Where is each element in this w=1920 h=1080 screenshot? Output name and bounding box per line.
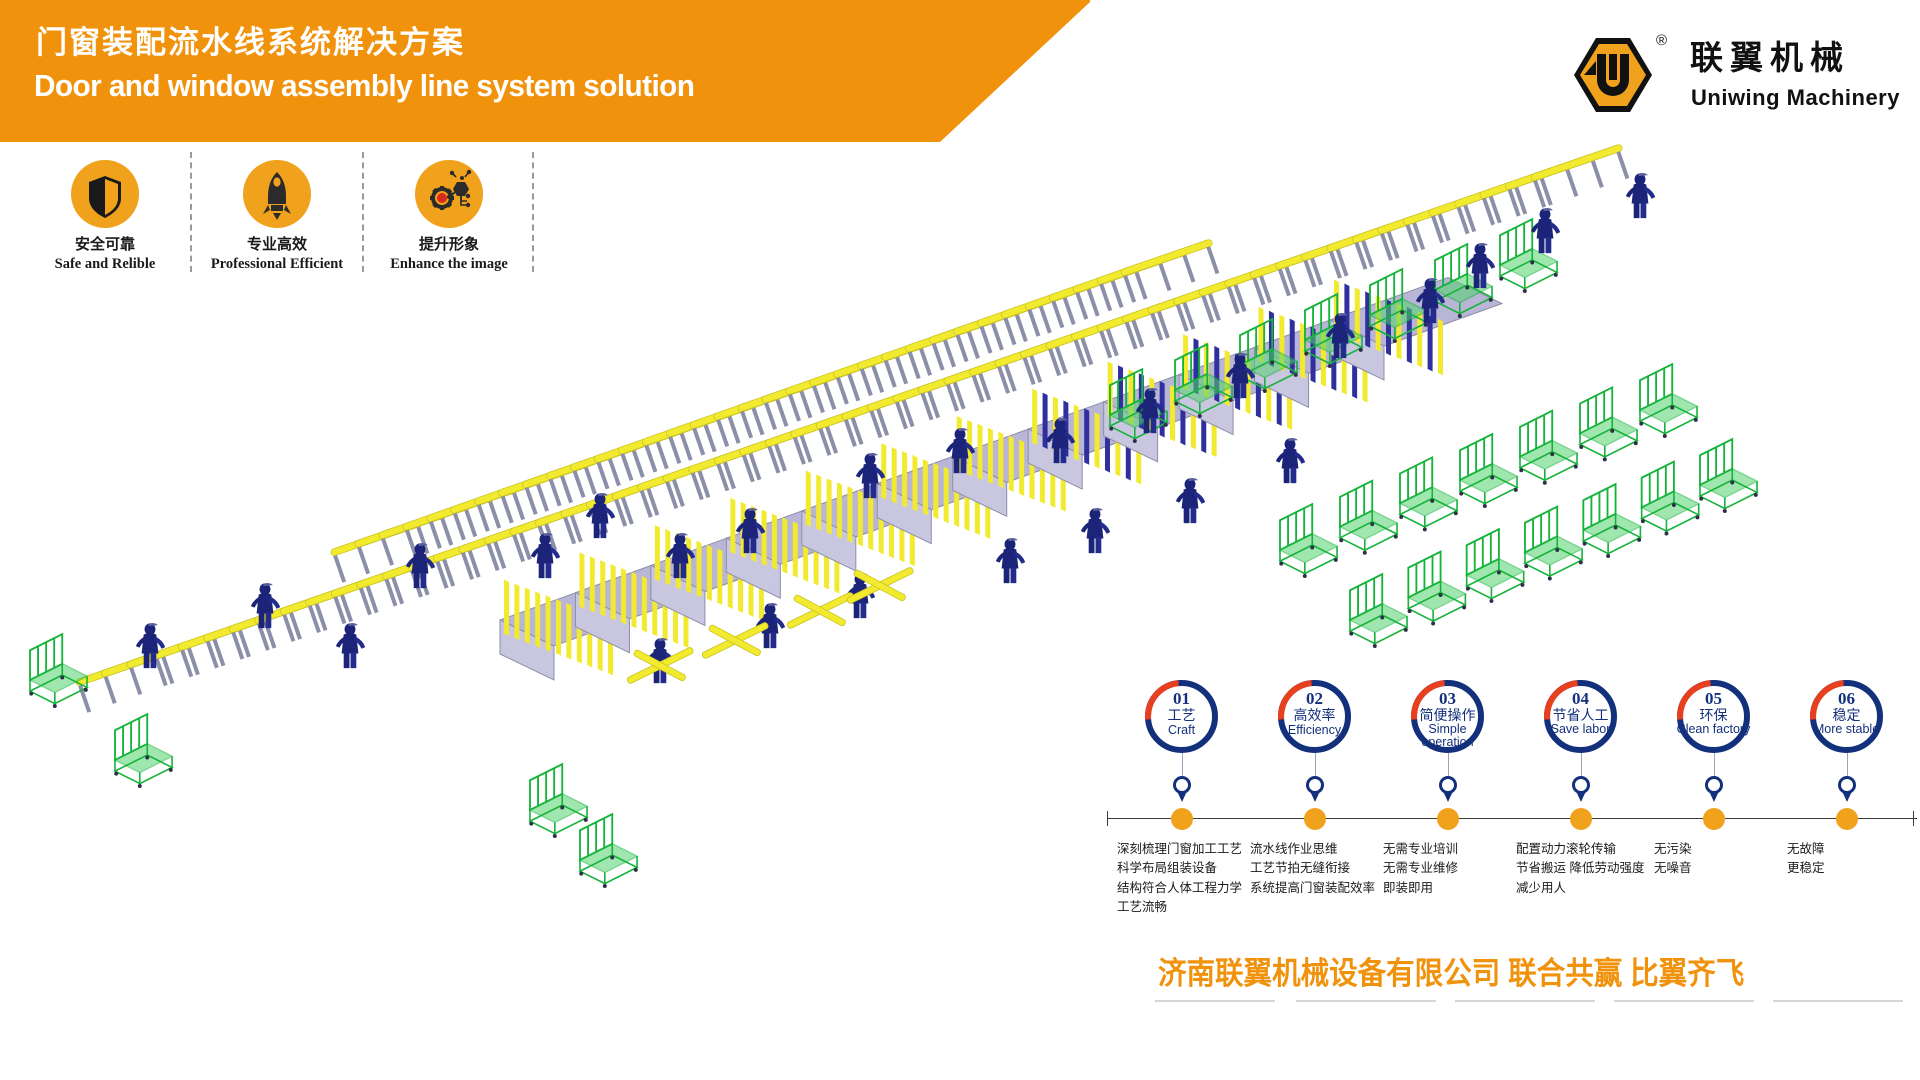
timeline-node-05[interactable]: 05 环保 Clean factory bbox=[1651, 680, 1776, 753]
footer-slogan: 济南联翼机械设备有限公司 联合共赢 比翼齐飞 bbox=[1158, 948, 1857, 993]
timeline-desc-06: 无故障 更稳定 bbox=[1787, 840, 1920, 879]
map-pin-icon bbox=[1572, 776, 1590, 794]
footer-rule bbox=[1455, 1000, 1595, 1002]
timeline-node-03[interactable]: 03 简便操作 Simple operation bbox=[1385, 680, 1510, 753]
timeline-title-en: Save labor bbox=[1538, 723, 1623, 736]
timeline-title-en: Efficiency bbox=[1272, 724, 1357, 737]
logo-name-cn: 联翼机械 bbox=[1690, 38, 1850, 78]
timeline-title-cn: 稳定 bbox=[1804, 708, 1889, 723]
timeline-desc-02: 流水线作业思维 工艺节拍无缝衔接 系统提高门窗装配效率 bbox=[1250, 840, 1390, 898]
timeline-title-cn: 简便操作 bbox=[1405, 708, 1490, 723]
footer-rule bbox=[1773, 1000, 1903, 1002]
timeline-stem bbox=[1182, 753, 1183, 776]
brand-logo[interactable]: ® 联翼机械 Uniwing Machinery bbox=[1572, 32, 1902, 120]
map-pin-icon bbox=[1838, 776, 1856, 794]
timeline-title-en: Simple operation bbox=[1405, 723, 1490, 748]
timeline-number: 04 bbox=[1550, 690, 1611, 707]
benefits-timeline: 01 工艺 Craft 02 高效率 Efficiency 03 简 bbox=[1125, 680, 1920, 980]
timeline-stem bbox=[1315, 753, 1316, 776]
footer-rule bbox=[1155, 1000, 1275, 1002]
timeline-circle: 05 环保 Clean factory bbox=[1677, 680, 1750, 753]
timeline-node-04[interactable]: 04 节省人工 Save labor bbox=[1518, 680, 1643, 753]
timeline-dot bbox=[1304, 808, 1326, 830]
timeline-dot bbox=[1703, 808, 1725, 830]
timeline-tick bbox=[1107, 811, 1108, 826]
timeline-number: 06 bbox=[1816, 690, 1877, 707]
timeline-circle: 02 高效率 Efficiency bbox=[1278, 680, 1351, 753]
hexagon-u-logo-icon bbox=[1572, 36, 1654, 114]
timeline-tick bbox=[1913, 811, 1914, 826]
timeline-title-en: Craft bbox=[1139, 724, 1224, 737]
timeline-axis bbox=[1107, 818, 1917, 819]
timeline-circle: 04 节省人工 Save labor bbox=[1544, 680, 1617, 753]
map-pin-icon bbox=[1306, 776, 1324, 794]
timeline-number: 02 bbox=[1284, 690, 1345, 707]
timeline-node-06[interactable]: 06 稳定 More stable bbox=[1784, 680, 1909, 753]
timeline-stem bbox=[1581, 753, 1582, 776]
page-title-cn: 门窗装配流水线系统解决方案 bbox=[36, 27, 465, 58]
timeline-number: 01 bbox=[1151, 690, 1212, 707]
page-title-en: Door and window assembly line system sol… bbox=[34, 70, 694, 101]
footer-rule bbox=[1614, 1000, 1754, 1002]
registered-mark-icon: ® bbox=[1656, 32, 1667, 49]
poster-root: 门窗装配流水线系统解决方案 Door and window assembly l… bbox=[0, 0, 1920, 1080]
timeline-number: 05 bbox=[1683, 690, 1744, 707]
timeline-number: 03 bbox=[1417, 690, 1478, 707]
timeline-circle: 06 稳定 More stable bbox=[1810, 680, 1883, 753]
timeline-stem bbox=[1448, 753, 1449, 776]
map-pin-icon bbox=[1705, 776, 1723, 794]
timeline-node-02[interactable]: 02 高效率 Efficiency bbox=[1252, 680, 1377, 753]
timeline-desc-03: 无需专业培训 无需专业维修 即装即用 bbox=[1383, 840, 1523, 898]
footer-rule bbox=[1296, 1000, 1436, 1002]
timeline-desc-05: 无污染 无噪音 bbox=[1654, 840, 1794, 879]
timeline-circle: 03 简便操作 Simple operation bbox=[1411, 680, 1484, 753]
timeline-circle: 01 工艺 Craft bbox=[1145, 680, 1218, 753]
timeline-title-cn: 节省人工 bbox=[1538, 708, 1623, 723]
timeline-title-en: More stable bbox=[1804, 723, 1889, 736]
timeline-title-cn: 高效率 bbox=[1272, 708, 1357, 723]
map-pin-icon bbox=[1173, 776, 1191, 794]
logo-name-en: Uniwing Machinery bbox=[1691, 85, 1900, 111]
timeline-dot bbox=[1836, 808, 1858, 830]
timeline-dot bbox=[1437, 808, 1459, 830]
map-pin-icon bbox=[1439, 776, 1457, 794]
timeline-dot bbox=[1570, 808, 1592, 830]
timeline-stem bbox=[1847, 753, 1848, 776]
timeline-dot bbox=[1171, 808, 1193, 830]
timeline-desc-01: 深刻梳理门窗加工工艺 科学布局组装设备 结构符合人体工程力学 工艺流畅 bbox=[1117, 840, 1257, 918]
timeline-stem bbox=[1714, 753, 1715, 776]
conveyor-line-upper-segments bbox=[75, 144, 1632, 713]
timeline-title-en: Clean factory bbox=[1671, 723, 1756, 736]
timeline-title-cn: 工艺 bbox=[1139, 708, 1224, 723]
timeline-desc-04: 配置动力滚轮传输 节省搬运 降低劳动强度 减少用人 bbox=[1516, 840, 1666, 898]
timeline-title-cn: 环保 bbox=[1671, 708, 1756, 723]
timeline-node-01[interactable]: 01 工艺 Craft bbox=[1119, 680, 1244, 753]
